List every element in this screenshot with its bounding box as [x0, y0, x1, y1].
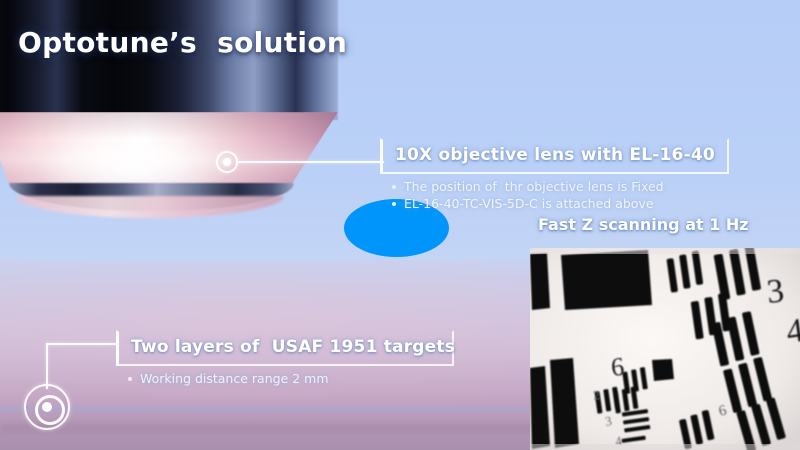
page-title: Optotune’s solution — [18, 26, 347, 59]
marker-dot-icon — [42, 402, 52, 412]
callout-title-box: Two layers of USAF 1951 targets — [116, 330, 454, 366]
callout-bullet-list: Working distance range 2 mm — [116, 370, 454, 387]
list-item: EL-16-40-TC-VIS-5D-C is attached above — [392, 195, 729, 212]
list-item: Working distance range 2 mm — [128, 370, 454, 387]
targets-callout-leader-vertical — [46, 343, 48, 389]
callout-bullet-list: The position of thr objective lens is Fi… — [380, 178, 729, 212]
slide-canvas: Optotune’s solution 10X objective lens w… — [0, 0, 800, 450]
lens-callout-leader-line — [236, 161, 384, 163]
usaf-target-graphic: 3 4 6 2 3 4 6 — [530, 248, 800, 450]
targets-callout-marker[interactable] — [24, 384, 70, 430]
list-item: The position of thr objective lens is Fi… — [392, 178, 729, 195]
inset-video-usaf-target[interactable]: 3 4 6 2 3 4 6 — [530, 248, 800, 450]
objective-lens-barrel — [0, 0, 338, 120]
inset-title: Fast Z scanning at 1 Hz — [538, 215, 749, 234]
callout-title: Two layers of USAF 1951 targets — [131, 337, 455, 357]
callout-title-box: 10X objective lens with EL-16-40 — [380, 138, 729, 174]
callout-title: 10X objective lens with EL-16-40 — [395, 145, 715, 165]
marker-dot-icon — [223, 158, 231, 166]
targets-callout-leader-horizontal — [46, 343, 118, 345]
callout-usaf-targets: Two layers of USAF 1951 targets Working … — [116, 330, 454, 387]
callout-objective-lens: 10X objective lens with EL-16-40 The pos… — [380, 138, 729, 212]
lens-callout-marker[interactable] — [216, 151, 238, 173]
